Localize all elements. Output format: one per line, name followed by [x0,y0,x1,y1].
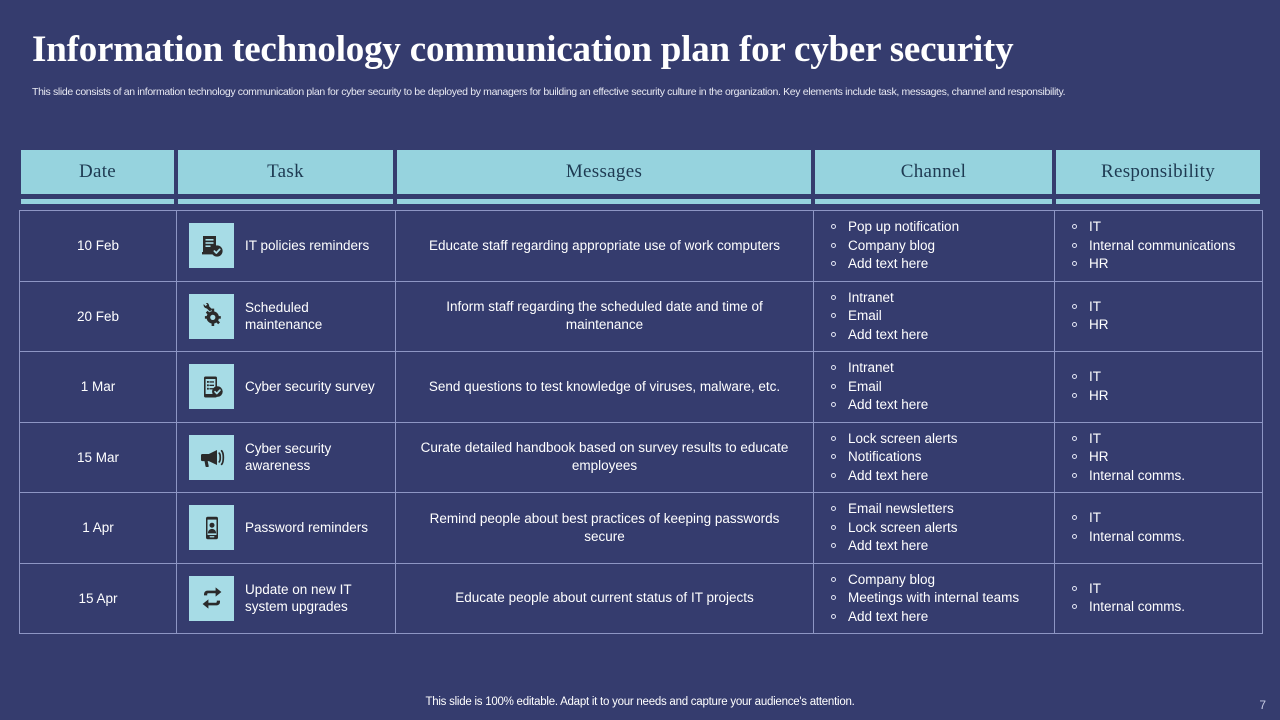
table-header-responsibility: Responsibility [1054,150,1262,204]
cell-channel-list: Pop up notificationCompany blogAdd text … [828,218,1048,274]
list-item: Internal comms. [1069,598,1256,617]
list-item: Add text here [828,537,1048,556]
footer-note: This slide is 100% editable. Adapt it to… [0,696,1280,708]
table-row: 15 MarCyber security awarenessCurate det… [20,422,1263,493]
list-item: HR [1069,255,1256,274]
cell-responsibility-list: ITHR [1069,298,1256,335]
list-item: IT [1069,298,1256,317]
page-number: 7 [1259,698,1266,712]
cell-channel: Lock screen alertsNotificationsAdd text … [814,422,1055,493]
list-item: IT [1069,368,1256,387]
cell-channel-list: Email newslettersLock screen alertsAdd t… [828,500,1048,556]
cell-message: Send questions to test knowledge of viru… [396,352,814,423]
list-item: Email [828,378,1048,397]
cell-channel: Company blogMeetings with internal teams… [814,563,1055,634]
cell-task: IT policies reminders [177,211,396,282]
table-row: 1 MarCyber security surveySend questions… [20,352,1263,423]
cell-channel: Email newslettersLock screen alertsAdd t… [814,493,1055,564]
refresh-sync-arrows-icon [189,576,234,621]
list-item: HR [1069,387,1256,406]
list-item: Internal comms. [1069,528,1256,547]
table-header-task: Task [176,150,395,204]
list-item: Intranet [828,359,1048,378]
list-item: Company blog [828,237,1048,256]
header-underline [397,199,811,204]
gear-wrench-maintenance-icon [189,294,234,339]
cell-task: Cyber security survey [177,352,396,423]
cell-channel: IntranetEmailAdd text here [814,281,1055,352]
header-underline [21,199,174,204]
task-label: Password reminders [245,519,368,536]
header-underline [815,199,1052,204]
cell-responsibility: ITHR [1055,352,1263,423]
list-item: Meetings with internal teams [828,589,1048,608]
cell-responsibility-list: ITInternal comms. [1069,580,1256,617]
cell-responsibility-list: ITHR [1069,368,1256,405]
communication-plan-table: Date Task Messages Channel Responsibilit… [19,150,1262,634]
cell-date: 1 Apr [20,493,177,564]
header-label: Channel [901,161,966,183]
table-body: 10 FebIT policies remindersEducate staff… [19,210,1263,634]
cell-message: Inform staff regarding the scheduled dat… [396,281,814,352]
cell-task: Scheduled maintenance [177,281,396,352]
cell-responsibility-list: ITInternal communicationsHR [1069,218,1256,274]
list-item: IT [1069,509,1256,528]
header-label: Messages [566,161,642,183]
slide-root: Information technology communication pla… [0,0,1280,720]
cell-date: 10 Feb [20,211,177,282]
cell-channel-list: IntranetEmailAdd text here [828,289,1048,345]
task-label: IT policies reminders [245,237,369,254]
cell-task: Password reminders [177,493,396,564]
list-item: HR [1069,316,1256,335]
list-item: Add text here [828,255,1048,274]
list-item: Email newsletters [828,500,1048,519]
header-label: Task [267,161,304,183]
slide-subtitle: This slide consists of an information te… [32,86,1216,99]
header-underline [1056,199,1260,204]
table-row: 20 FebScheduled maintenanceInform staff … [20,281,1263,352]
table-header-row: Date Task Messages Channel Responsibilit… [19,150,1262,204]
list-item: Email [828,307,1048,326]
cell-message: Curate detailed handbook based on survey… [396,422,814,493]
cell-date: 15 Mar [20,422,177,493]
cell-responsibility: ITHR [1055,281,1263,352]
cell-channel: IntranetEmailAdd text here [814,352,1055,423]
cell-date: 1 Mar [20,352,177,423]
list-item: Add text here [828,396,1048,415]
cell-responsibility-list: ITHRInternal comms. [1069,430,1256,486]
list-item: Intranet [828,289,1048,308]
table-row: 10 FebIT policies remindersEducate staff… [20,211,1263,282]
task-label: Cyber security survey [245,378,375,395]
table-row: 1 AprPassword remindersRemind people abo… [20,493,1263,564]
policy-document-check-icon [189,223,234,268]
list-item: HR [1069,448,1256,467]
list-item: Add text here [828,467,1048,486]
cell-channel: Pop up notificationCompany blogAdd text … [814,211,1055,282]
list-item: Add text here [828,326,1048,345]
cell-responsibility: ITInternal comms. [1055,493,1263,564]
phone-lock-user-icon [189,505,234,550]
table-header-channel: Channel [813,150,1054,204]
list-item: IT [1069,218,1256,237]
header-underline [178,199,393,204]
cell-channel-list: Company blogMeetings with internal teams… [828,571,1048,627]
list-item: Lock screen alerts [828,430,1048,449]
cell-task: Cyber security awareness [177,422,396,493]
mobile-survey-icon [189,364,234,409]
list-item: Lock screen alerts [828,519,1048,538]
cell-responsibility: ITHRInternal comms. [1055,422,1263,493]
list-item: IT [1069,580,1256,599]
list-item: Company blog [828,571,1048,590]
cell-message: Educate staff regarding appropriate use … [396,211,814,282]
megaphone-icon [189,435,234,480]
list-item: Internal communications [1069,237,1256,256]
list-item: Add text here [828,608,1048,627]
cell-responsibility: ITInternal communicationsHR [1055,211,1263,282]
cell-message: Remind people about best practices of ke… [396,493,814,564]
cell-date: 20 Feb [20,281,177,352]
cell-date: 15 Apr [20,563,177,634]
task-label: Update on new IT system upgrades [245,581,387,615]
cell-responsibility-list: ITInternal comms. [1069,509,1256,546]
cell-responsibility: ITInternal comms. [1055,563,1263,634]
cell-task: Update on new IT system upgrades [177,563,396,634]
header-label: Responsibility [1101,161,1215,183]
table-header-date: Date [19,150,176,204]
table-header-messages: Messages [395,150,813,204]
table-row: 15 AprUpdate on new IT system upgradesEd… [20,563,1263,634]
list-item: Notifications [828,448,1048,467]
cell-message: Educate people about current status of I… [396,563,814,634]
task-label: Cyber security awareness [245,440,387,474]
list-item: IT [1069,430,1256,449]
task-label: Scheduled maintenance [245,299,387,333]
header-label: Date [79,161,116,183]
page-title: Information technology communication pla… [32,28,1013,71]
cell-channel-list: Lock screen alertsNotificationsAdd text … [828,430,1048,486]
list-item: Internal comms. [1069,467,1256,486]
cell-channel-list: IntranetEmailAdd text here [828,359,1048,415]
list-item: Pop up notification [828,218,1048,237]
